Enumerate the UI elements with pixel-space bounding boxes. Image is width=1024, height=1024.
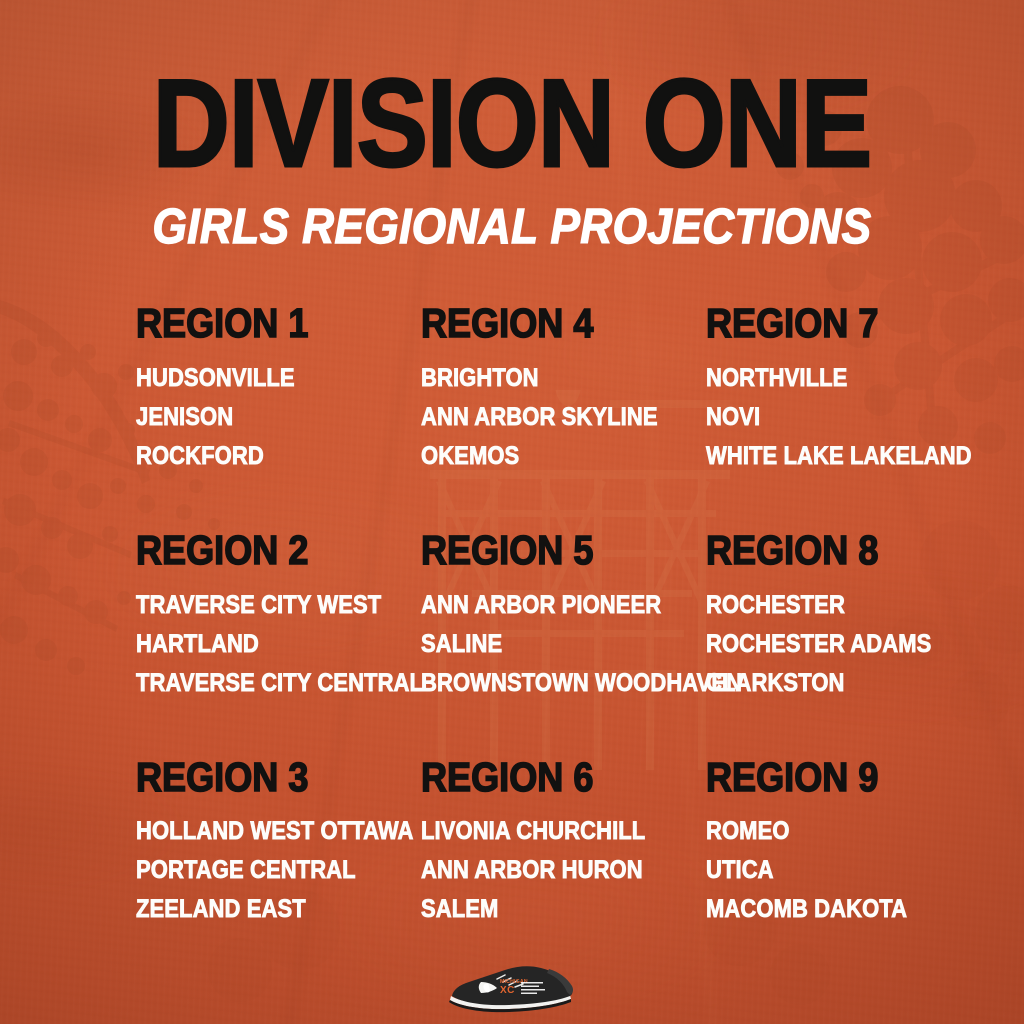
list-item: MACOMB DAKOTA (706, 890, 891, 929)
school-list: HOLLAND WEST OTTAWA PORTAGE CENTRAL ZEEL… (136, 812, 421, 929)
region-block-2: REGION 2 TRAVERSE CITY WEST HARTLAND TRA… (136, 530, 421, 703)
list-item: HUDSONVILLE (136, 359, 387, 398)
list-item: BROWNSTOWN WOODHAVEN (421, 664, 672, 703)
school-list: TRAVERSE CITY WEST HARTLAND TRAVERSE CIT… (136, 586, 421, 703)
list-item: WHITE LAKE LAKELAND (706, 437, 891, 476)
list-item: HOLLAND WEST OTTAWA (136, 812, 387, 851)
list-item: UTICA (706, 851, 891, 890)
regions-grid: REGION 1 HUDSONVILLE JENISON ROCKFORD RE… (136, 303, 916, 929)
school-list: ROMEO UTICA MACOMB DAKOTA (706, 812, 916, 929)
list-item: NOVI (706, 398, 891, 437)
school-list: LIVONIA CHURCHILL ANN ARBOR HURON SALEM (421, 812, 706, 929)
list-item: TRAVERSE CITY WEST (136, 586, 387, 625)
list-item: BRIGHTON (421, 359, 672, 398)
list-item: NORTHVILLE (706, 359, 891, 398)
region-title: REGION 7 (706, 303, 891, 345)
list-item: HARTLAND (136, 625, 387, 664)
region-block-9: REGION 9 ROMEO UTICA MACOMB DAKOTA (706, 757, 916, 930)
list-item: PORTAGE CENTRAL (136, 851, 387, 890)
region-block-5: REGION 5 ANN ARBOR PIONEER SALINE BROWNS… (421, 530, 706, 703)
list-item: ANN ARBOR HURON (421, 851, 672, 890)
region-block-8: REGION 8 ROCHESTER ROCHESTER ADAMS CLARK… (706, 530, 916, 703)
list-item: ROCKFORD (136, 437, 387, 476)
page-title: DIVISION ONE (72, 62, 953, 186)
school-list: ROCHESTER ROCHESTER ADAMS CLARKSTON (706, 586, 916, 703)
michigan-xc-racing-shoe-logo-icon: MICHIGAN XC (437, 952, 587, 1014)
school-list: BRIGHTON ANN ARBOR SKYLINE OKEMOS (421, 359, 706, 476)
logo-xc-text: XC (500, 985, 515, 996)
list-item: JENISON (136, 398, 387, 437)
poster-content: DIVISION ONE GIRLS REGIONAL PROJECTIONS … (0, 0, 1024, 1024)
region-title: REGION 2 (136, 530, 387, 572)
list-item: LIVONIA CHURCHILL (421, 812, 672, 851)
list-item: ZEELAND EAST (136, 890, 387, 929)
list-item: ROMEO (706, 812, 891, 851)
region-block-7: REGION 7 NORTHVILLE NOVI WHITE LAKE LAKE… (706, 303, 916, 476)
school-list: ANN ARBOR PIONEER SALINE BROWNSTOWN WOOD… (421, 586, 706, 703)
list-item: ANN ARBOR PIONEER (421, 586, 672, 625)
poster-canvas: DIVISION ONE GIRLS REGIONAL PROJECTIONS … (0, 0, 1024, 1024)
region-title: REGION 1 (136, 303, 387, 345)
region-block-1: REGION 1 HUDSONVILLE JENISON ROCKFORD (136, 303, 421, 476)
region-title: REGION 4 (421, 303, 672, 345)
school-list: NORTHVILLE NOVI WHITE LAKE LAKELAND (706, 359, 916, 476)
list-item: ROCHESTER ADAMS (706, 625, 891, 664)
region-block-4: REGION 4 BRIGHTON ANN ARBOR SKYLINE OKEM… (421, 303, 706, 476)
list-item: CLARKSTON (706, 664, 891, 703)
region-title: REGION 6 (421, 757, 672, 799)
region-block-3: REGION 3 HOLLAND WEST OTTAWA PORTAGE CEN… (136, 757, 421, 930)
region-title: REGION 5 (421, 530, 672, 572)
region-block-6: REGION 6 LIVONIA CHURCHILL ANN ARBOR HUR… (421, 757, 706, 930)
page-subtitle: GIRLS REGIONAL PROJECTIONS (51, 203, 973, 252)
list-item: SALEM (421, 890, 672, 929)
list-item: ROCHESTER (706, 586, 891, 625)
region-title: REGION 9 (706, 757, 891, 799)
school-list: HUDSONVILLE JENISON ROCKFORD (136, 359, 421, 476)
list-item: SALINE (421, 625, 672, 664)
list-item: ANN ARBOR SKYLINE (421, 398, 672, 437)
list-item: OKEMOS (421, 437, 672, 476)
list-item: TRAVERSE CITY CENTRAL (136, 664, 387, 703)
region-title: REGION 8 (706, 530, 891, 572)
region-title: REGION 3 (136, 757, 387, 799)
